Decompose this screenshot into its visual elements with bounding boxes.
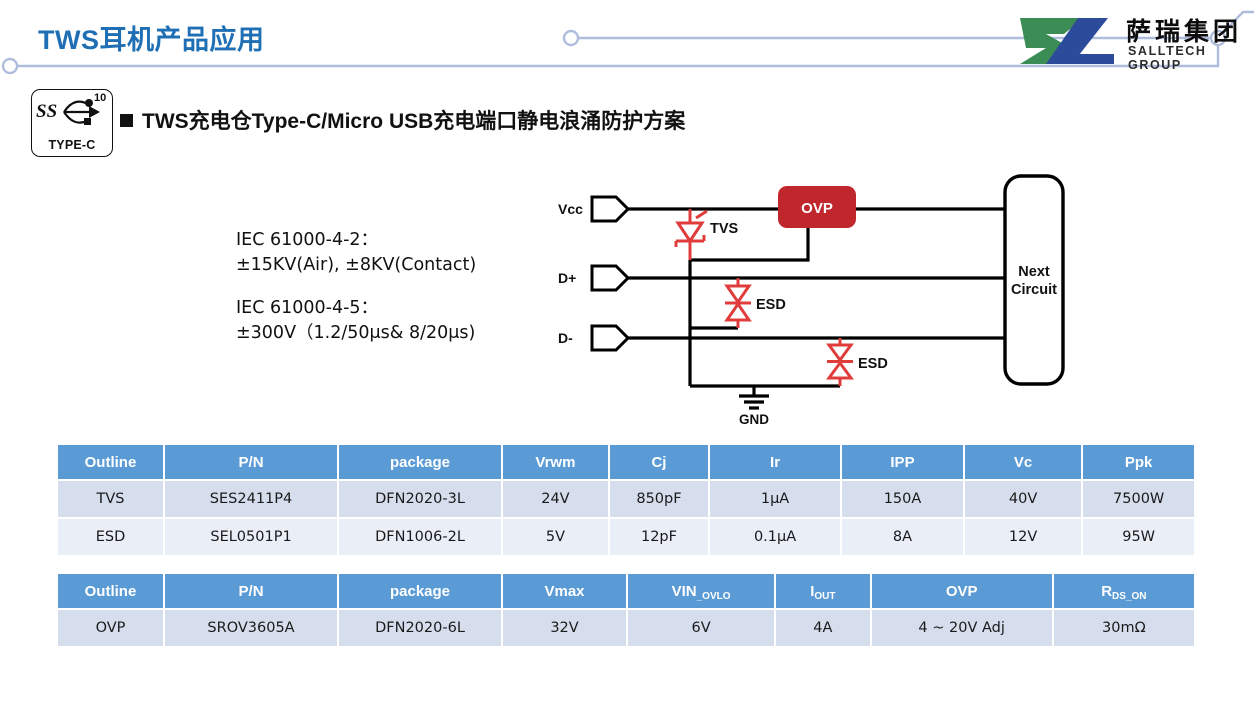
port-label-dminus: D- bbox=[558, 330, 573, 346]
cell-outline: ESD bbox=[57, 518, 164, 556]
cell-ppk: 7500W bbox=[1082, 480, 1195, 518]
next-circuit-line1: Next bbox=[1018, 264, 1050, 280]
cell-outline: OVP bbox=[57, 609, 164, 647]
slide-canvas: TWS耳机产品应用 萨瑞集团 SALLTECH GROUP SS 10 TYPE… bbox=[0, 0, 1254, 703]
ovp-block-label: OVP bbox=[801, 200, 833, 217]
col-header-vin-sub: _OVLO bbox=[697, 591, 731, 602]
port-label-dplus: D+ bbox=[558, 270, 576, 286]
col-header-outline[interactable]: Outline bbox=[57, 444, 164, 480]
col-header-rds-main: R bbox=[1101, 583, 1112, 600]
col-header-ppk[interactable]: Ppk bbox=[1082, 444, 1195, 480]
ovp-block: OVP bbox=[778, 186, 856, 228]
cell-outline: TVS bbox=[57, 480, 164, 518]
col-header-cj[interactable]: Cj bbox=[609, 444, 709, 480]
esd-diode-symbol-1 bbox=[725, 278, 751, 328]
col-header-ir[interactable]: Ir bbox=[709, 444, 841, 480]
next-circuit-line2: Circuit bbox=[1011, 282, 1057, 298]
table-ovp: Outline P/N package Vmax VIN_OVLO IOUT O… bbox=[56, 572, 1196, 648]
protection-circuit-diagram: Vcc D+ D- TVS OVP ESD bbox=[550, 168, 1090, 424]
circuit-wires bbox=[624, 209, 1005, 386]
col-header-vrwm[interactable]: Vrwm bbox=[502, 444, 609, 480]
cell-vc: 40V bbox=[964, 480, 1082, 518]
cell-cj: 12pF bbox=[609, 518, 709, 556]
cell-ppk: 95W bbox=[1082, 518, 1195, 556]
logo-name-cn: 萨瑞集团 bbox=[1126, 12, 1242, 48]
cell-vrwm: 5V bbox=[502, 518, 609, 556]
cell-pn: SES2411P4 bbox=[164, 480, 338, 518]
col-header-vc[interactable]: Vc bbox=[964, 444, 1082, 480]
svg-text:SS: SS bbox=[36, 101, 57, 122]
col-header-outline[interactable]: Outline bbox=[57, 573, 164, 609]
page-title: TWS耳机产品应用 bbox=[38, 18, 265, 57]
cell-package: DFN2020-3L bbox=[338, 480, 502, 518]
bullet-square-icon bbox=[120, 114, 133, 127]
table-row: OVP SROV3605A DFN2020-6L 32V 6V 4A 4 ~ 2… bbox=[57, 609, 1195, 647]
ground-label: GND bbox=[739, 412, 769, 424]
col-header-vin-main: VIN bbox=[672, 583, 697, 600]
cell-ovp: 4 ~ 20V Adj bbox=[871, 609, 1053, 647]
tvs-diode-symbol bbox=[676, 209, 707, 260]
cell-ipp: 8A bbox=[841, 518, 964, 556]
cell-iout: 4A bbox=[775, 609, 871, 647]
port-connector bbox=[592, 197, 628, 350]
esd-diode-symbol-2 bbox=[827, 338, 853, 386]
port-label-vcc: Vcc bbox=[558, 201, 583, 217]
logo-name-en: SALLTECH GROUP bbox=[1128, 44, 1242, 72]
section-heading: TWS充电仓Type-C/Micro USB充电端口静电浪涌防护方案 bbox=[142, 105, 685, 135]
col-header-pn[interactable]: P/N bbox=[164, 573, 338, 609]
iec-line-2: ±15KV(Air), ±8KV(Contact) bbox=[236, 253, 476, 278]
col-header-package[interactable]: package bbox=[338, 444, 502, 480]
iec-spec-block: IEC 61000-4-2： ±15KV(Air), ±8KV(Contact)… bbox=[236, 228, 476, 346]
table-row: TVS SES2411P4 DFN2020-3L 24V 850pF 1μA 1… bbox=[57, 480, 1195, 518]
cell-cj: 850pF bbox=[609, 480, 709, 518]
col-header-iout-sub: OUT bbox=[814, 591, 835, 602]
esd-label-1: ESD bbox=[756, 297, 786, 313]
cell-vin-ovlo: 6V bbox=[627, 609, 775, 647]
brand-logo: 萨瑞集团 SALLTECH GROUP bbox=[1016, 14, 1242, 70]
table-row: ESD SEL0501P1 DFN1006-2L 5V 12pF 0.1μA 8… bbox=[57, 518, 1195, 556]
usb-type-c-icon: SS 10 bbox=[32, 90, 110, 138]
cell-pn: SEL0501P1 bbox=[164, 518, 338, 556]
cell-package: DFN1006-2L bbox=[338, 518, 502, 556]
type-c-badge: SS 10 TYPE-C bbox=[31, 89, 113, 157]
iec-line-1: IEC 61000-4-2： bbox=[236, 228, 476, 253]
cell-ir: 0.1μA bbox=[709, 518, 841, 556]
cell-vrwm: 24V bbox=[502, 480, 609, 518]
esd-label-2: ESD bbox=[858, 356, 888, 372]
next-circuit-block: Next Circuit bbox=[1005, 176, 1063, 384]
cell-ir: 1μA bbox=[709, 480, 841, 518]
col-header-rds-sub: DS_ON bbox=[1112, 591, 1146, 602]
table-header-row: Outline P/N package Vmax VIN_OVLO IOUT O… bbox=[57, 573, 1195, 609]
cell-vc: 12V bbox=[964, 518, 1082, 556]
col-header-rds-on[interactable]: RDS_ON bbox=[1053, 573, 1195, 609]
col-header-iout[interactable]: IOUT bbox=[775, 573, 871, 609]
col-header-ipp[interactable]: IPP bbox=[841, 444, 964, 480]
col-header-vin-ovlo[interactable]: VIN_OVLO bbox=[627, 573, 775, 609]
col-header-ovp[interactable]: OVP bbox=[871, 573, 1053, 609]
svg-text:10: 10 bbox=[94, 92, 106, 104]
col-header-vmax[interactable]: Vmax bbox=[502, 573, 627, 609]
table-header-row: Outline P/N package Vrwm Cj Ir IPP Vc Pp… bbox=[57, 444, 1195, 480]
type-c-label: TYPE-C bbox=[32, 138, 112, 152]
ground-symbol bbox=[739, 386, 769, 408]
col-header-package[interactable]: package bbox=[338, 573, 502, 609]
iec-line-4: ±300V（1.2/50μs& 8/20μs) bbox=[236, 321, 476, 346]
cell-vmax: 32V bbox=[502, 609, 627, 647]
iec-line-3: IEC 61000-4-5： bbox=[236, 296, 476, 321]
table-tvs-esd: Outline P/N package Vrwm Cj Ir IPP Vc Pp… bbox=[56, 443, 1196, 557]
cell-pn: SROV3605A bbox=[164, 609, 338, 647]
cell-rds-on: 30mΩ bbox=[1053, 609, 1195, 647]
salltech-logo-mark bbox=[1016, 14, 1120, 68]
cell-package: DFN2020-6L bbox=[338, 609, 502, 647]
col-header-pn[interactable]: P/N bbox=[164, 444, 338, 480]
tvs-label: TVS bbox=[710, 221, 739, 237]
cell-ipp: 150A bbox=[841, 480, 964, 518]
iec-spacer bbox=[236, 278, 476, 296]
